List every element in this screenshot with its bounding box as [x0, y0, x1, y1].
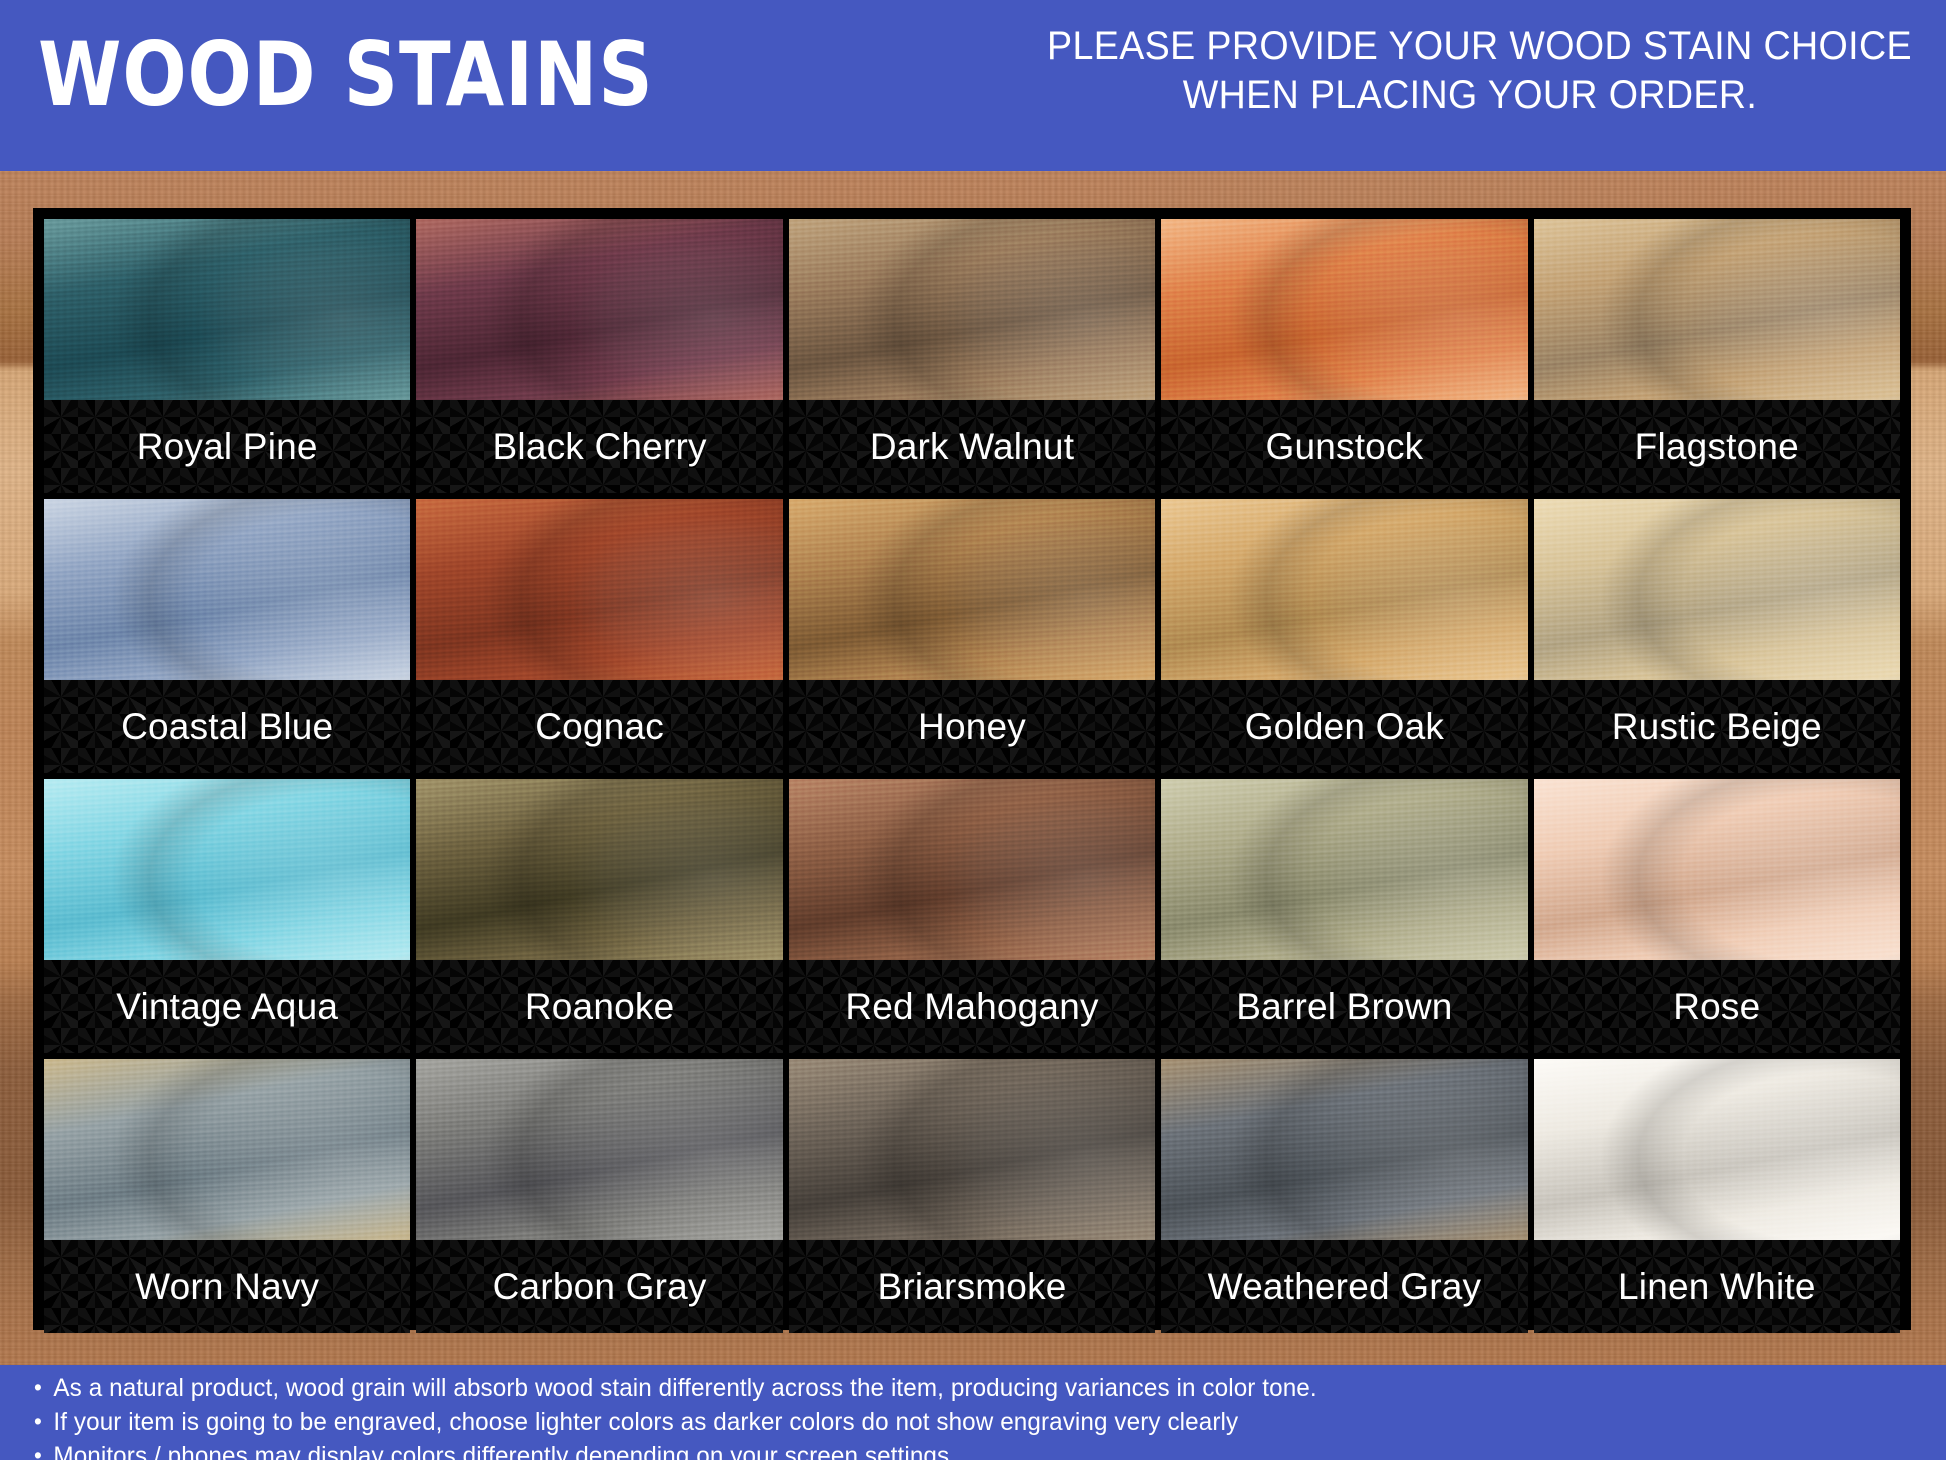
stain-label: Roanoke — [525, 986, 675, 1028]
header-instruction-line2: WHEN PLACING YOUR ORDER. — [1047, 71, 1893, 120]
stain-swatch[interactable] — [789, 499, 1155, 680]
stain-cell[interactable]: Vintage Aqua — [41, 776, 413, 1056]
stain-cell[interactable]: Carbon Gray — [413, 1056, 785, 1336]
stain-label: Honey — [918, 706, 1026, 748]
stain-label: Golden Oak — [1245, 706, 1444, 748]
stain-swatch[interactable] — [416, 1059, 782, 1240]
stain-swatch[interactable] — [1161, 499, 1527, 680]
stain-label-strip: Worn Navy — [44, 1240, 410, 1333]
stain-cell[interactable]: Coastal Blue — [41, 496, 413, 776]
stain-row: Royal PineBlack CherryDark WalnutGunstoc… — [41, 216, 1903, 496]
stain-label-strip: Briarsmoke — [789, 1240, 1155, 1333]
stain-cell[interactable]: Dark Walnut — [786, 216, 1158, 496]
stain-swatch-panel: Royal PineBlack CherryDark WalnutGunstoc… — [33, 208, 1911, 1330]
stain-swatch[interactable] — [416, 779, 782, 960]
stain-row: Vintage AquaRoanokeRed MahoganyBarrel Br… — [41, 776, 1903, 1056]
stain-cell[interactable]: Roanoke — [413, 776, 785, 1056]
stain-cell[interactable]: Golden Oak — [1158, 496, 1530, 776]
stain-cell[interactable]: Barrel Brown — [1158, 776, 1530, 1056]
stain-swatch[interactable] — [1534, 219, 1900, 400]
disclaimer-text: If your item is going to be engraved, ch… — [53, 1408, 1238, 1437]
stain-cell[interactable]: Black Cherry — [413, 216, 785, 496]
stain-swatch[interactable] — [44, 779, 410, 960]
disclaimer-item: •As a natural product, wood grain will a… — [34, 1374, 1889, 1403]
stain-cell[interactable]: Worn Navy — [41, 1056, 413, 1336]
stain-cell[interactable]: Gunstock — [1158, 216, 1530, 496]
stain-label: Cognac — [535, 706, 664, 748]
stain-swatch[interactable] — [1534, 499, 1900, 680]
stain-swatch[interactable] — [789, 779, 1155, 960]
wood-stain-chart: WOOD STAINS PLEASE PROVIDE YOUR WOOD STA… — [0, 0, 1946, 1460]
page-title: WOOD STAINS — [38, 20, 654, 130]
stain-row: Worn NavyCarbon GrayBriarsmokeWeathered … — [41, 1056, 1903, 1336]
stain-label: Weathered Gray — [1208, 1266, 1482, 1308]
stain-swatch[interactable] — [1534, 779, 1900, 960]
stain-label: Carbon Gray — [493, 1266, 707, 1308]
stain-label-strip: Carbon Gray — [416, 1240, 782, 1333]
stain-label-strip: Dark Walnut — [789, 400, 1155, 493]
stain-cell[interactable]: Royal Pine — [41, 216, 413, 496]
stain-cell[interactable]: Flagstone — [1531, 216, 1903, 496]
stain-label-strip: Roanoke — [416, 960, 782, 1053]
stain-label-strip: Gunstock — [1161, 400, 1527, 493]
bullet-icon: • — [34, 1442, 53, 1460]
stain-swatch[interactable] — [416, 499, 782, 680]
header-instruction: PLEASE PROVIDE YOUR WOOD STAIN CHOICE WH… — [1047, 22, 1893, 120]
stain-swatch[interactable] — [1161, 219, 1527, 400]
stain-label-strip: Honey — [789, 680, 1155, 773]
stain-label-strip: Weathered Gray — [1161, 1240, 1527, 1333]
stain-label: Gunstock — [1265, 426, 1423, 468]
stain-label-strip: Rustic Beige — [1534, 680, 1900, 773]
bullet-icon: • — [34, 1374, 53, 1402]
stain-swatch[interactable] — [789, 219, 1155, 400]
disclaimer-item: •If your item is going to be engraved, c… — [34, 1408, 1889, 1437]
bullet-icon: • — [34, 1408, 53, 1436]
stain-label-strip: Rose — [1534, 960, 1900, 1053]
stain-label: Rose — [1673, 986, 1760, 1028]
stain-label-strip: Golden Oak — [1161, 680, 1527, 773]
stain-cell[interactable]: Linen White — [1531, 1056, 1903, 1336]
stain-label: Linen White — [1618, 1266, 1816, 1308]
stain-swatch[interactable] — [416, 219, 782, 400]
stain-label: Red Mahogany — [845, 986, 1098, 1028]
stain-label-strip: Barrel Brown — [1161, 960, 1527, 1053]
stain-label: Dark Walnut — [870, 426, 1074, 468]
stain-label: Barrel Brown — [1236, 986, 1452, 1028]
stain-cell[interactable]: Briarsmoke — [786, 1056, 1158, 1336]
stain-label-strip: Cognac — [416, 680, 782, 773]
stain-label: Flagstone — [1635, 426, 1799, 468]
stain-label: Coastal Blue — [121, 706, 333, 748]
stain-cell[interactable]: Weathered Gray — [1158, 1056, 1530, 1336]
stain-label: Rustic Beige — [1612, 706, 1822, 748]
stain-swatch[interactable] — [1161, 779, 1527, 960]
stain-cell[interactable]: Red Mahogany — [786, 776, 1158, 1056]
stain-swatch[interactable] — [44, 499, 410, 680]
stain-label-strip: Flagstone — [1534, 400, 1900, 493]
header-instruction-line1: PLEASE PROVIDE YOUR WOOD STAIN CHOICE — [1047, 22, 1893, 71]
stain-label: Vintage Aqua — [116, 986, 338, 1028]
stain-row: Coastal BlueCognacHoneyGolden OakRustic … — [41, 496, 1903, 776]
stain-label-strip: Red Mahogany — [789, 960, 1155, 1053]
header-banner: WOOD STAINS PLEASE PROVIDE YOUR WOOD STA… — [0, 0, 1946, 171]
stain-swatch[interactable] — [44, 219, 410, 400]
stain-swatch[interactable] — [1161, 1059, 1527, 1240]
stain-label-strip: Coastal Blue — [44, 680, 410, 773]
stain-label: Black Cherry — [493, 426, 707, 468]
disclaimer-footer: •As a natural product, wood grain will a… — [0, 1365, 1946, 1460]
stain-label-strip: Black Cherry — [416, 400, 782, 493]
stain-label-strip: Vintage Aqua — [44, 960, 410, 1053]
stain-label: Briarsmoke — [877, 1266, 1066, 1308]
stain-cell[interactable]: Cognac — [413, 496, 785, 776]
stain-label-strip: Linen White — [1534, 1240, 1900, 1333]
stain-cell[interactable]: Honey — [786, 496, 1158, 776]
stain-swatch[interactable] — [789, 1059, 1155, 1240]
disclaimer-text: As a natural product, wood grain will ab… — [53, 1374, 1316, 1403]
stain-label: Worn Navy — [135, 1266, 319, 1308]
disclaimer-text: Monitors / phones may display colors dif… — [53, 1442, 949, 1460]
stain-label: Royal Pine — [137, 426, 318, 468]
stain-swatch[interactable] — [44, 1059, 410, 1240]
stain-cell[interactable]: Rustic Beige — [1531, 496, 1903, 776]
stain-swatch[interactable] — [1534, 1059, 1900, 1240]
disclaimer-item: •Monitors / phones may display colors di… — [34, 1442, 1889, 1460]
stain-label-strip: Royal Pine — [44, 400, 410, 493]
stain-cell[interactable]: Rose — [1531, 776, 1903, 1056]
